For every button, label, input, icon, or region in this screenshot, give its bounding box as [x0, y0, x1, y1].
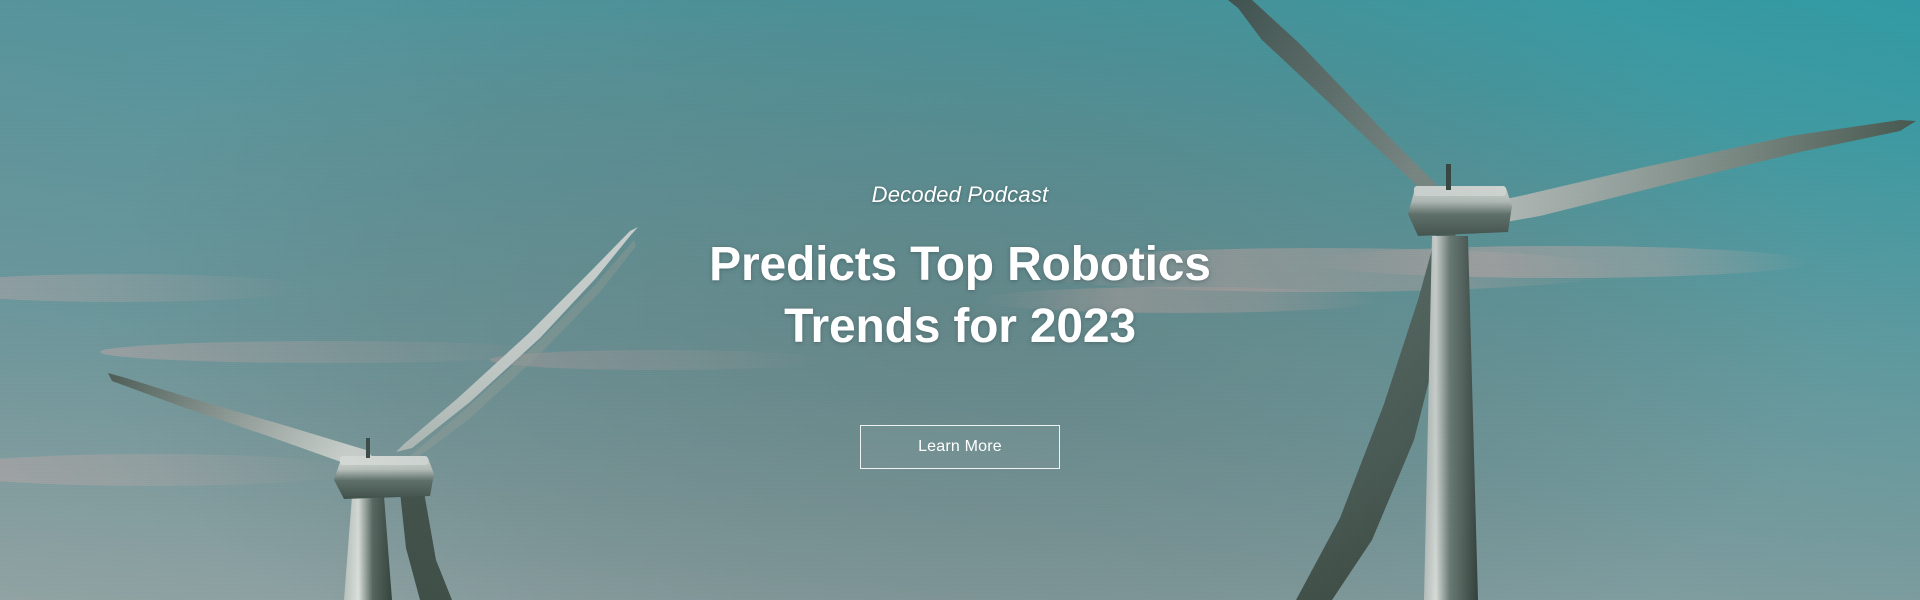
headline-line-1: Predicts Top Robotics — [709, 234, 1211, 295]
learn-more-button[interactable]: Learn More — [860, 425, 1060, 469]
hero-kicker: Decoded Podcast — [872, 182, 1049, 208]
hero-content: Decoded Podcast Predicts Top Robotics Tr… — [0, 0, 1920, 600]
hero-banner: Decoded Podcast Predicts Top Robotics Tr… — [0, 0, 1920, 600]
hero-headline: Predicts Top Robotics Trends for 2023 — [709, 234, 1211, 357]
headline-line-2: Trends for 2023 — [709, 296, 1211, 357]
hero-cta-wrapper: Learn More — [860, 425, 1060, 469]
